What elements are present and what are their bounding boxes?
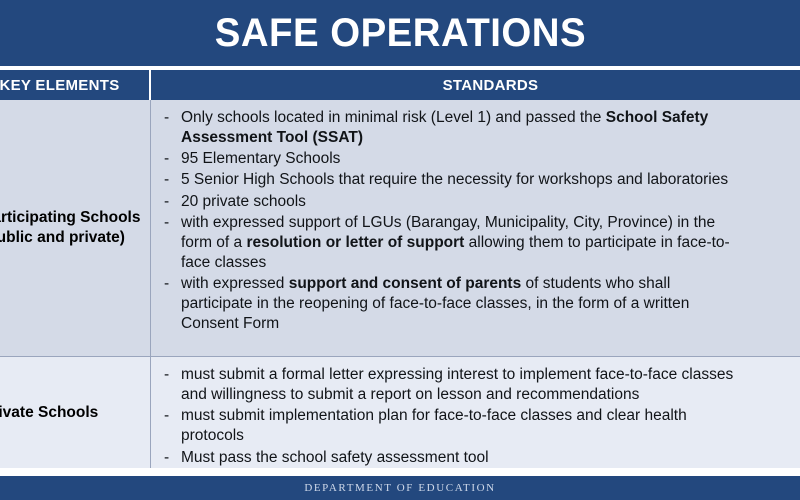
plain-text: with expressed — [181, 275, 289, 292]
standards-line: 5 Senior High Schools that require the n… — [181, 170, 800, 190]
table-row: Private Schoolsmust submit a formal lett… — [0, 356, 800, 468]
plain-text: protocols — [181, 427, 244, 444]
footer-band: DEPARTMENT OF EDUCATION — [0, 476, 800, 500]
standards-line: form of a resolution or letter of suppor… — [181, 233, 800, 253]
standards-line: participate in the reopening of face-to-… — [181, 294, 800, 314]
column-header-key-elements: KEY ELEMENTS — [0, 70, 151, 100]
plain-text: must submit a formal letter expressing i… — [181, 366, 733, 383]
page-title: SAFE OPERATIONS — [214, 13, 585, 53]
standards-list: Only schools located in minimal risk (Le… — [155, 108, 800, 335]
standards-list-item: 5 Senior High Schools that require the n… — [155, 170, 800, 190]
plain-text: Must pass the school safety assessment t… — [181, 449, 489, 466]
plain-text: of students who shall — [521, 275, 670, 292]
footer-organization-label: DEPARTMENT OF EDUCATION — [304, 482, 495, 494]
standards-list-item: with expressed support of LGUs (Barangay… — [155, 213, 800, 273]
standards-list-item: Only schools located in minimal risk (Le… — [155, 108, 800, 148]
standards-line: 95 Elementary Schools — [181, 149, 800, 169]
standards-line: 20 private schools — [181, 192, 800, 212]
plain-text: and willingness to submit a report on le… — [181, 386, 639, 403]
cell-standards: must submit a formal letter expressing i… — [151, 357, 800, 468]
emphasized-text: resolution or letter of support — [246, 234, 464, 251]
table-row: Participating Schools (public and privat… — [0, 100, 800, 356]
plain-text: 95 Elementary Schools — [181, 150, 340, 167]
plain-text: with expressed support of LGUs (Barangay… — [181, 214, 715, 231]
column-header-standards: STANDARDS — [151, 70, 800, 100]
standards-line: protocols — [181, 426, 800, 446]
emphasized-text: School Safety — [606, 109, 709, 126]
cell-key-element: Private Schools — [0, 357, 151, 468]
standards-list-item: Must pass the school safety assessment t… — [155, 448, 800, 468]
standards-line: face classes — [181, 253, 800, 273]
standards-list-item: with expressed support and consent of pa… — [155, 274, 800, 334]
plain-text: 5 Senior High Schools that require the n… — [181, 171, 728, 188]
emphasized-text: Assessment Tool (SSAT) — [181, 129, 363, 146]
standards-line: must submit a formal letter expressing i… — [181, 365, 800, 385]
standards-list-item: 20 private schools — [155, 192, 800, 212]
standards-list-item: must submit a formal letter expressing i… — [155, 365, 800, 405]
standards-line: Must pass the school safety assessment t… — [181, 448, 800, 468]
key-element-label: Private Schools — [0, 403, 98, 423]
slide-title-band: SAFE OPERATIONS — [0, 0, 800, 66]
standards-line: Assessment Tool (SSAT) — [181, 128, 800, 148]
standards-line: with expressed support and consent of pa… — [181, 274, 800, 294]
standards-list-item: 95 Elementary Schools — [155, 149, 800, 169]
cell-standards: Only schools located in minimal risk (Le… — [151, 100, 800, 356]
standards-line: Only schools located in minimal risk (Le… — [181, 108, 800, 128]
cell-key-element: Participating Schools (public and privat… — [0, 100, 151, 356]
plain-text: form of a — [181, 234, 246, 251]
plain-text: participate in the reopening of face-to-… — [181, 295, 689, 312]
standards-line: must submit implementation plan for face… — [181, 406, 800, 426]
key-element-label: Participating Schools (public and privat… — [0, 208, 142, 248]
plain-text: face classes — [181, 254, 266, 271]
standards-list: must submit a formal letter expressing i… — [155, 365, 800, 468]
standards-table: KEY ELEMENTS STANDARDS Participating Sch… — [0, 70, 800, 456]
emphasized-text: support and consent of parents — [289, 275, 522, 292]
standards-line: and willingness to submit a report on le… — [181, 385, 800, 405]
slide-canvas: SAFE OPERATIONS KEY ELEMENTS STANDARDS P… — [0, 0, 800, 500]
standards-line: Consent Form — [181, 314, 800, 334]
table-body: Participating Schools (public and privat… — [0, 100, 800, 468]
plain-text: Only schools located in minimal risk (Le… — [181, 109, 606, 126]
table-header-row: KEY ELEMENTS STANDARDS — [0, 70, 800, 100]
plain-text: 20 private schools — [181, 193, 306, 210]
plain-text: Consent Form — [181, 315, 279, 332]
plain-text: must submit implementation plan for face… — [181, 407, 687, 424]
plain-text: allowing them to participate in face-to- — [464, 234, 729, 251]
standards-line: with expressed support of LGUs (Barangay… — [181, 213, 800, 233]
standards-list-item: must submit implementation plan for face… — [155, 406, 800, 446]
